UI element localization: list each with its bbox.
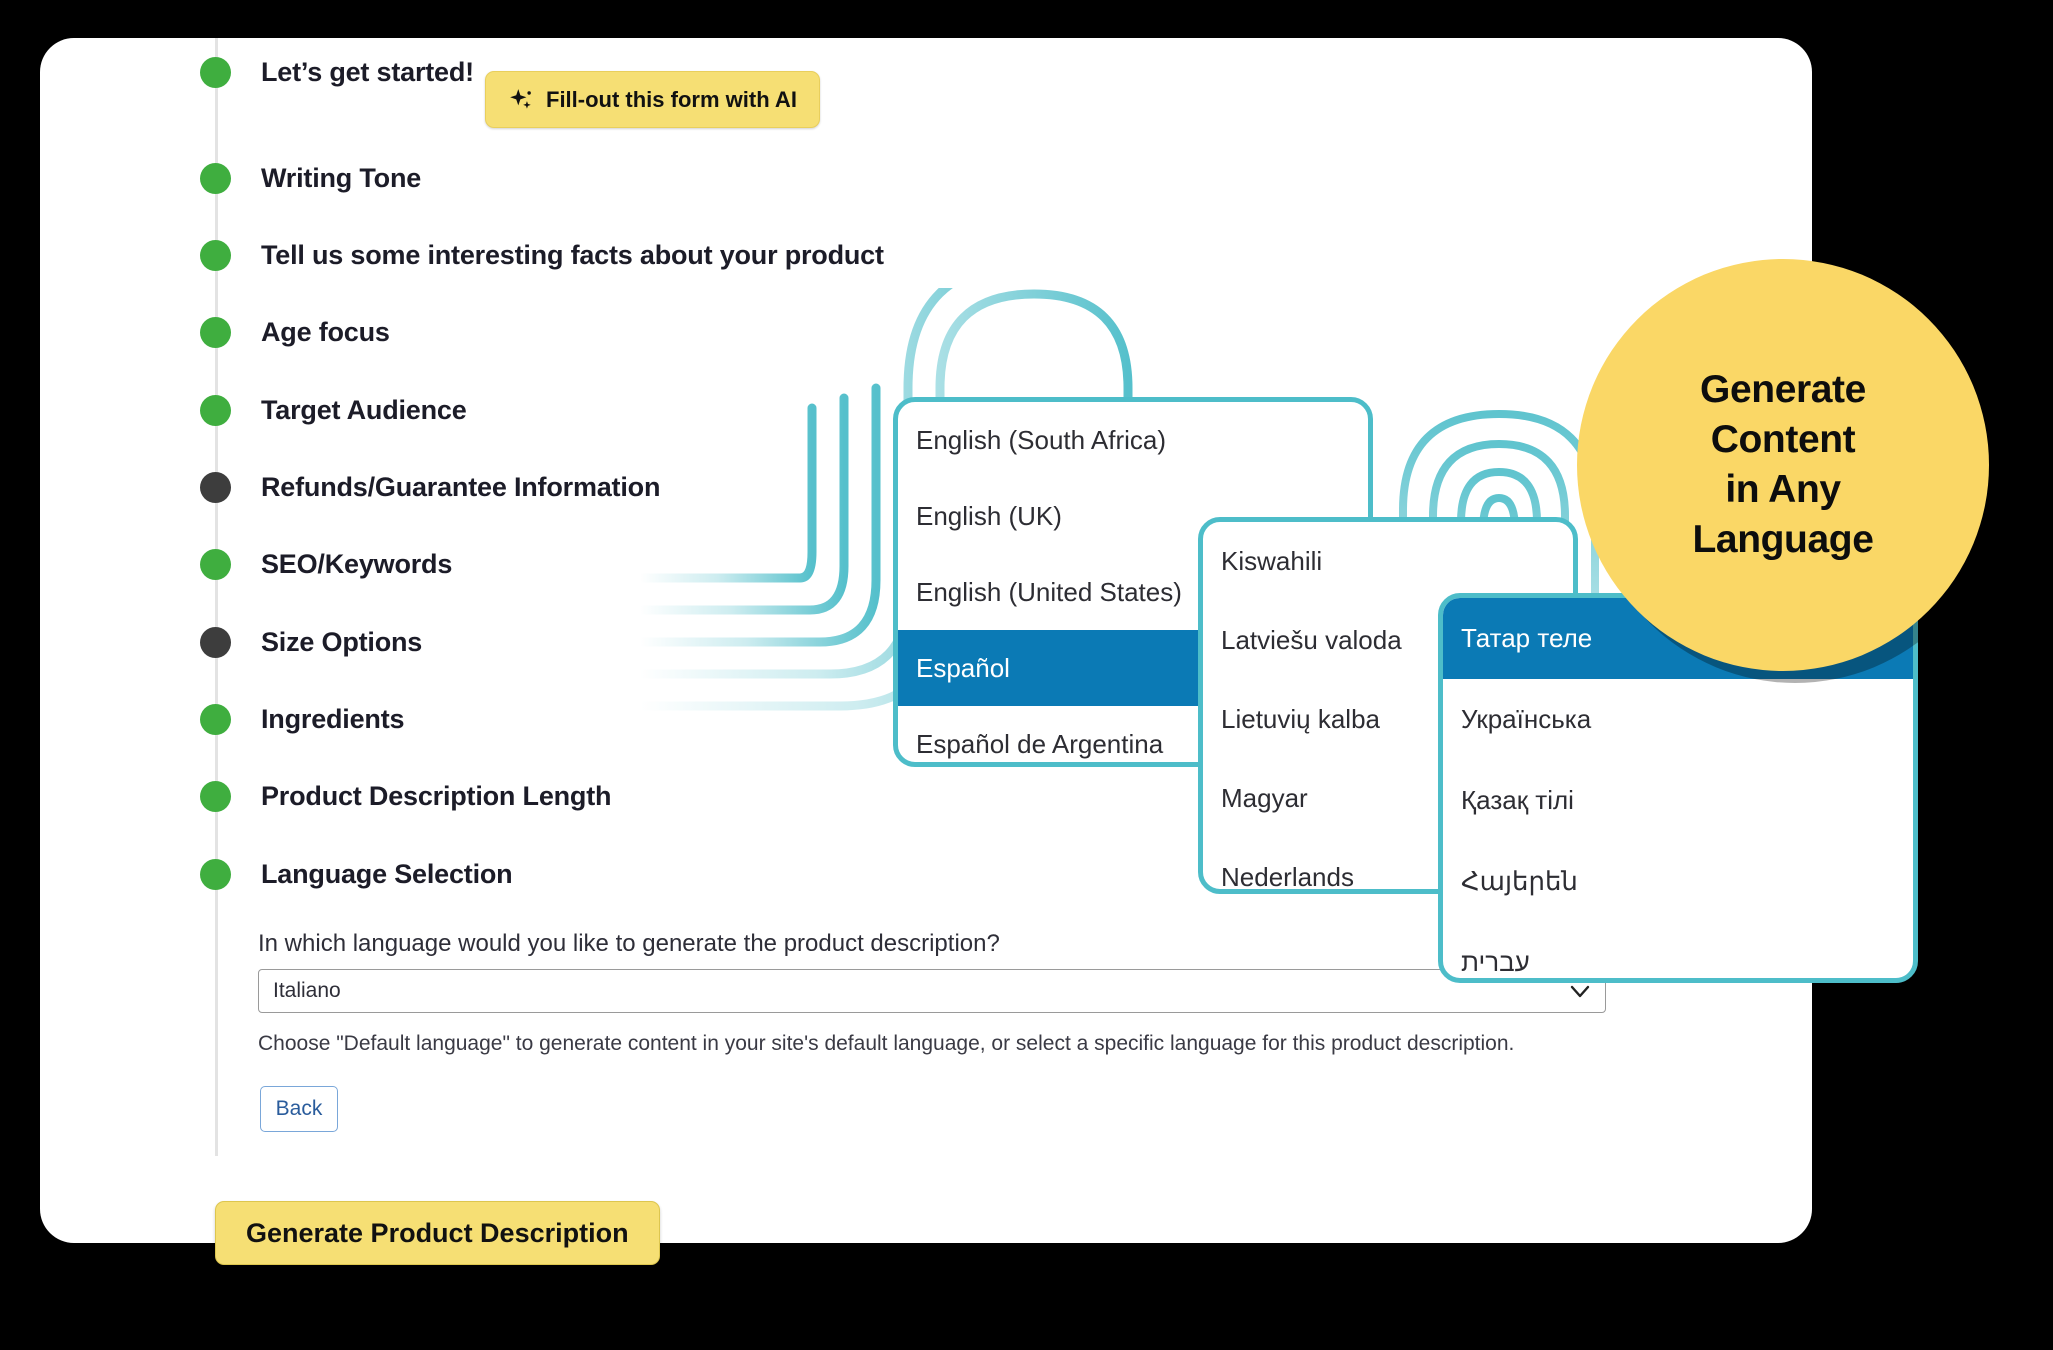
language-help-text: Choose "Default language" to generate co… bbox=[258, 1032, 1514, 1056]
step-label: Tell us some interesting facts about you… bbox=[261, 240, 884, 271]
promo-badge-line: Language bbox=[1693, 515, 1874, 565]
promo-badge-line: Generate bbox=[1700, 365, 1866, 415]
step-item[interactable]: Language Selection bbox=[200, 857, 512, 891]
fill-form-with-ai-label: Fill-out this form with AI bbox=[546, 87, 797, 113]
step-label: Let’s get started! bbox=[261, 57, 474, 88]
fill-form-with-ai-button[interactable]: Fill-out this form with AI bbox=[485, 71, 820, 128]
generate-product-description-button[interactable]: Generate Product Description bbox=[215, 1201, 660, 1265]
dropdown-option[interactable]: עברית bbox=[1443, 922, 1913, 983]
dropdown-option[interactable]: Հայերեն bbox=[1443, 841, 1913, 922]
screenshot-stage: Let’s get started! Writing Tone Tell us … bbox=[0, 0, 2053, 1350]
step-label: Size Options bbox=[261, 627, 422, 658]
dropdown-option[interactable]: English (South Africa) bbox=[898, 402, 1368, 478]
step-item[interactable]: Size Options bbox=[200, 625, 422, 659]
step-label: Age focus bbox=[261, 317, 390, 348]
language-question-label: In which language would you like to gene… bbox=[258, 930, 1000, 958]
timeline-rail bbox=[215, 38, 218, 1156]
step-status-dot bbox=[200, 395, 231, 426]
dropdown-option[interactable]: Kiswahili bbox=[1203, 522, 1573, 601]
step-label: Ingredients bbox=[261, 704, 404, 735]
step-label: Writing Tone bbox=[261, 163, 421, 194]
step-item[interactable]: Writing Tone bbox=[200, 161, 421, 195]
step-status-dot bbox=[200, 317, 231, 348]
step-item[interactable]: Age focus bbox=[200, 315, 390, 349]
chevron-down-icon bbox=[1569, 982, 1591, 1002]
step-label: SEO/Keywords bbox=[261, 549, 452, 580]
step-status-dot bbox=[200, 549, 231, 580]
step-item[interactable]: Ingredients bbox=[200, 702, 404, 736]
language-select-value: Italiano bbox=[259, 979, 341, 1003]
step-status-dot bbox=[200, 704, 231, 735]
step-status-dot bbox=[200, 240, 231, 271]
step-item[interactable]: SEO/Keywords bbox=[200, 547, 452, 581]
step-status-dot bbox=[200, 627, 231, 658]
sparkle-icon bbox=[508, 87, 534, 113]
back-button[interactable]: Back bbox=[260, 1086, 338, 1132]
step-status-dot bbox=[200, 472, 231, 503]
promo-badge: Generate Content in Any Language bbox=[1577, 259, 1989, 671]
dropdown-option[interactable]: Қазақ тілі bbox=[1443, 760, 1913, 841]
step-status-dot bbox=[200, 163, 231, 194]
step-item[interactable]: Let’s get started! bbox=[200, 55, 474, 89]
step-label: Target Audience bbox=[261, 395, 467, 426]
step-label: Refunds/Guarantee Information bbox=[261, 472, 660, 503]
step-label: Language Selection bbox=[261, 859, 512, 890]
promo-badge-line: in Any bbox=[1725, 465, 1840, 515]
step-status-dot bbox=[200, 57, 231, 88]
step-item[interactable]: Refunds/Guarantee Information bbox=[200, 470, 660, 504]
step-status-dot bbox=[200, 859, 231, 890]
step-status-dot bbox=[200, 781, 231, 812]
step-item[interactable]: Target Audience bbox=[200, 393, 467, 427]
step-item[interactable]: Tell us some interesting facts about you… bbox=[200, 238, 884, 272]
step-item[interactable]: Product Description Length bbox=[200, 779, 611, 813]
step-label: Product Description Length bbox=[261, 781, 611, 812]
promo-badge-line: Content bbox=[1711, 415, 1856, 465]
language-select[interactable]: Italiano bbox=[258, 969, 1606, 1013]
dropdown-option[interactable]: Українська bbox=[1443, 679, 1913, 760]
